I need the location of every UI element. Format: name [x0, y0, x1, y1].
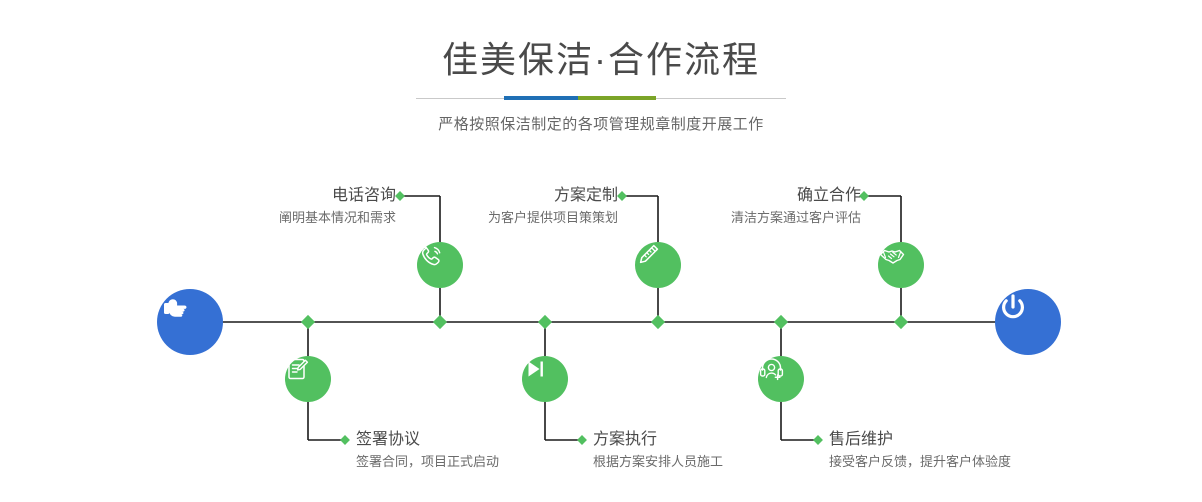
timeline-diamond-1	[433, 315, 447, 329]
step-title-6: 售后维护	[829, 430, 1011, 450]
step-desc-1: 阐明基本情况和需求	[279, 208, 396, 228]
timeline-diamond-2	[301, 315, 315, 329]
label-diamond-4	[577, 435, 587, 445]
timeline-diamond-3	[651, 315, 665, 329]
step-icon-6[interactable]	[758, 356, 804, 402]
step-title-3: 方案定制	[488, 186, 618, 206]
label-diamond-2	[340, 435, 350, 445]
step-icon-4[interactable]	[522, 356, 568, 402]
step-icon-2[interactable]	[285, 356, 331, 402]
step-label-5: 确立合作 清洁方案通过客户评估	[731, 186, 861, 228]
step-title-1: 电话咨询	[279, 186, 396, 206]
step-label-2: 签署协议 签署合同，项目正式启动	[356, 430, 499, 472]
step-title-2: 签署协议	[356, 430, 499, 450]
step-icon-1[interactable]	[417, 242, 463, 288]
step-desc-4: 根据方案安排人员施工	[593, 452, 723, 472]
flow-end-endpoint[interactable]	[995, 289, 1061, 355]
label-diamond-6	[813, 435, 823, 445]
step-label-3: 方案定制 为客户提供项目策策划	[488, 186, 618, 228]
step-icon-3[interactable]	[635, 242, 681, 288]
step-title-4: 方案执行	[593, 430, 723, 450]
timeline-diamond-6	[774, 315, 788, 329]
process-flow-diagram: 电话咨询 阐明基本情况和需求 签署协议 签署合同，项目正式启动	[0, 0, 1202, 502]
step-title-5: 确立合作	[731, 186, 861, 206]
step-label-4: 方案执行 根据方案安排人员施工	[593, 430, 723, 472]
step-icon-5[interactable]	[878, 242, 924, 288]
step-label-1: 电话咨询 阐明基本情况和需求	[279, 186, 396, 228]
label-diamond-1	[395, 191, 405, 201]
step-desc-6: 接受客户反馈，提升客户体验度	[829, 452, 1011, 472]
flow-start-endpoint[interactable]	[157, 289, 223, 355]
timeline-diamond-5	[894, 315, 908, 329]
step-desc-5: 清洁方案通过客户评估	[731, 208, 861, 228]
step-label-6: 售后维护 接受客户反馈，提升客户体验度	[829, 430, 1011, 472]
timeline-diamond-4	[538, 315, 552, 329]
label-diamond-3	[617, 191, 627, 201]
step-desc-2: 签署合同，项目正式启动	[356, 452, 499, 472]
step-desc-3: 为客户提供项目策策划	[488, 208, 618, 228]
flow-connectors	[0, 0, 1202, 502]
